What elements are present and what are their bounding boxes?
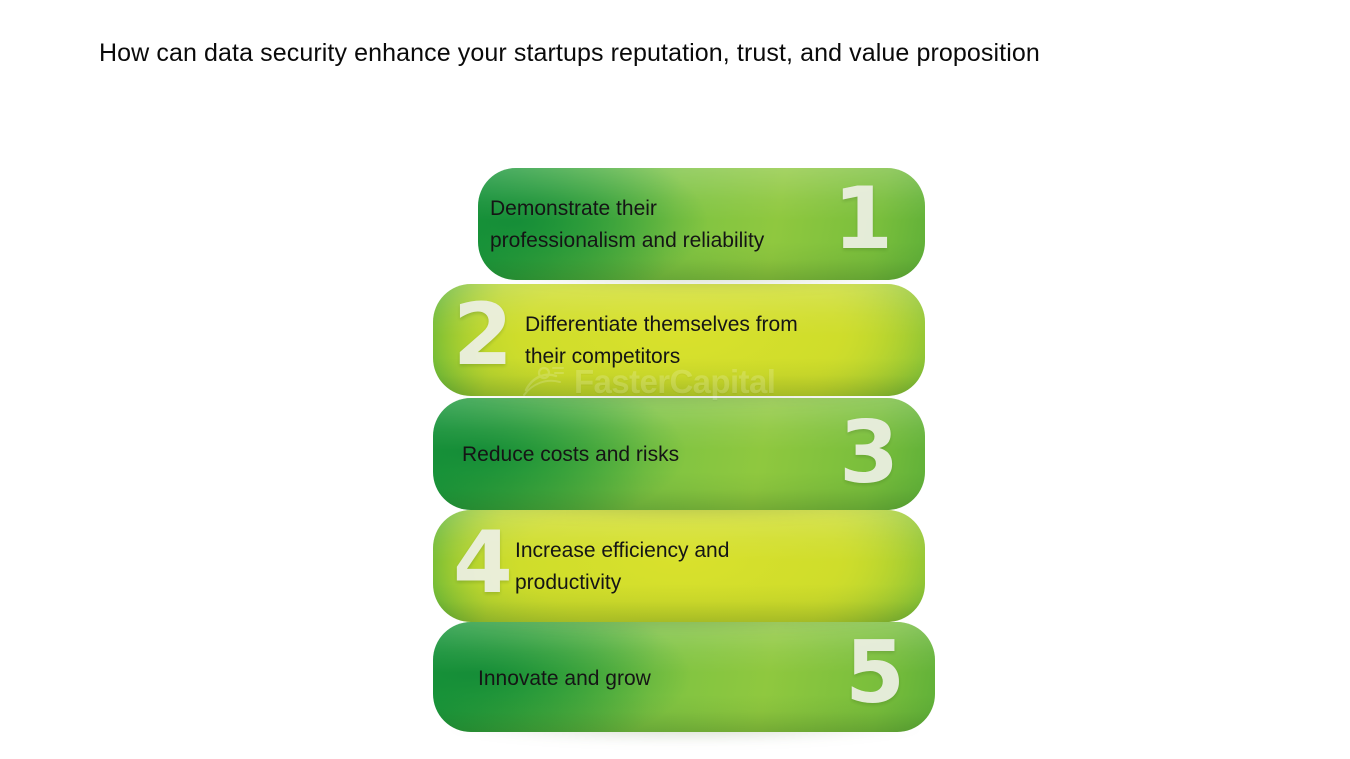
- step-number-5: 5: [845, 630, 905, 716]
- list-item-4[interactable]: 4 Increase efficiency and productivity: [433, 510, 925, 622]
- step-number-4: 4: [453, 520, 513, 606]
- list-item-1[interactable]: 1 Demonstrate their professionalism and …: [478, 168, 925, 280]
- step-number-1: 1: [833, 176, 893, 262]
- step-label-3: Reduce costs and risks: [462, 439, 822, 471]
- list-item-5[interactable]: 5 Innovate and grow: [433, 622, 935, 732]
- step-label-1: Demonstrate their professionalism and re…: [490, 193, 820, 257]
- step-number-3: 3: [839, 410, 899, 496]
- step-number-2: 2: [453, 292, 513, 378]
- list-item-2[interactable]: 2 Differentiate themselves from their co…: [433, 284, 925, 396]
- slide-canvas: How can data security enhance your start…: [0, 0, 1350, 759]
- step-label-4: Increase efficiency and productivity: [515, 535, 845, 599]
- list-item-3[interactable]: 3 Reduce costs and risks: [433, 398, 925, 510]
- numbered-list-infographic: 1 Demonstrate their professionalism and …: [0, 0, 1350, 759]
- step-label-2: Differentiate themselves from their comp…: [525, 309, 885, 373]
- step-label-5: Innovate and grow: [478, 663, 808, 695]
